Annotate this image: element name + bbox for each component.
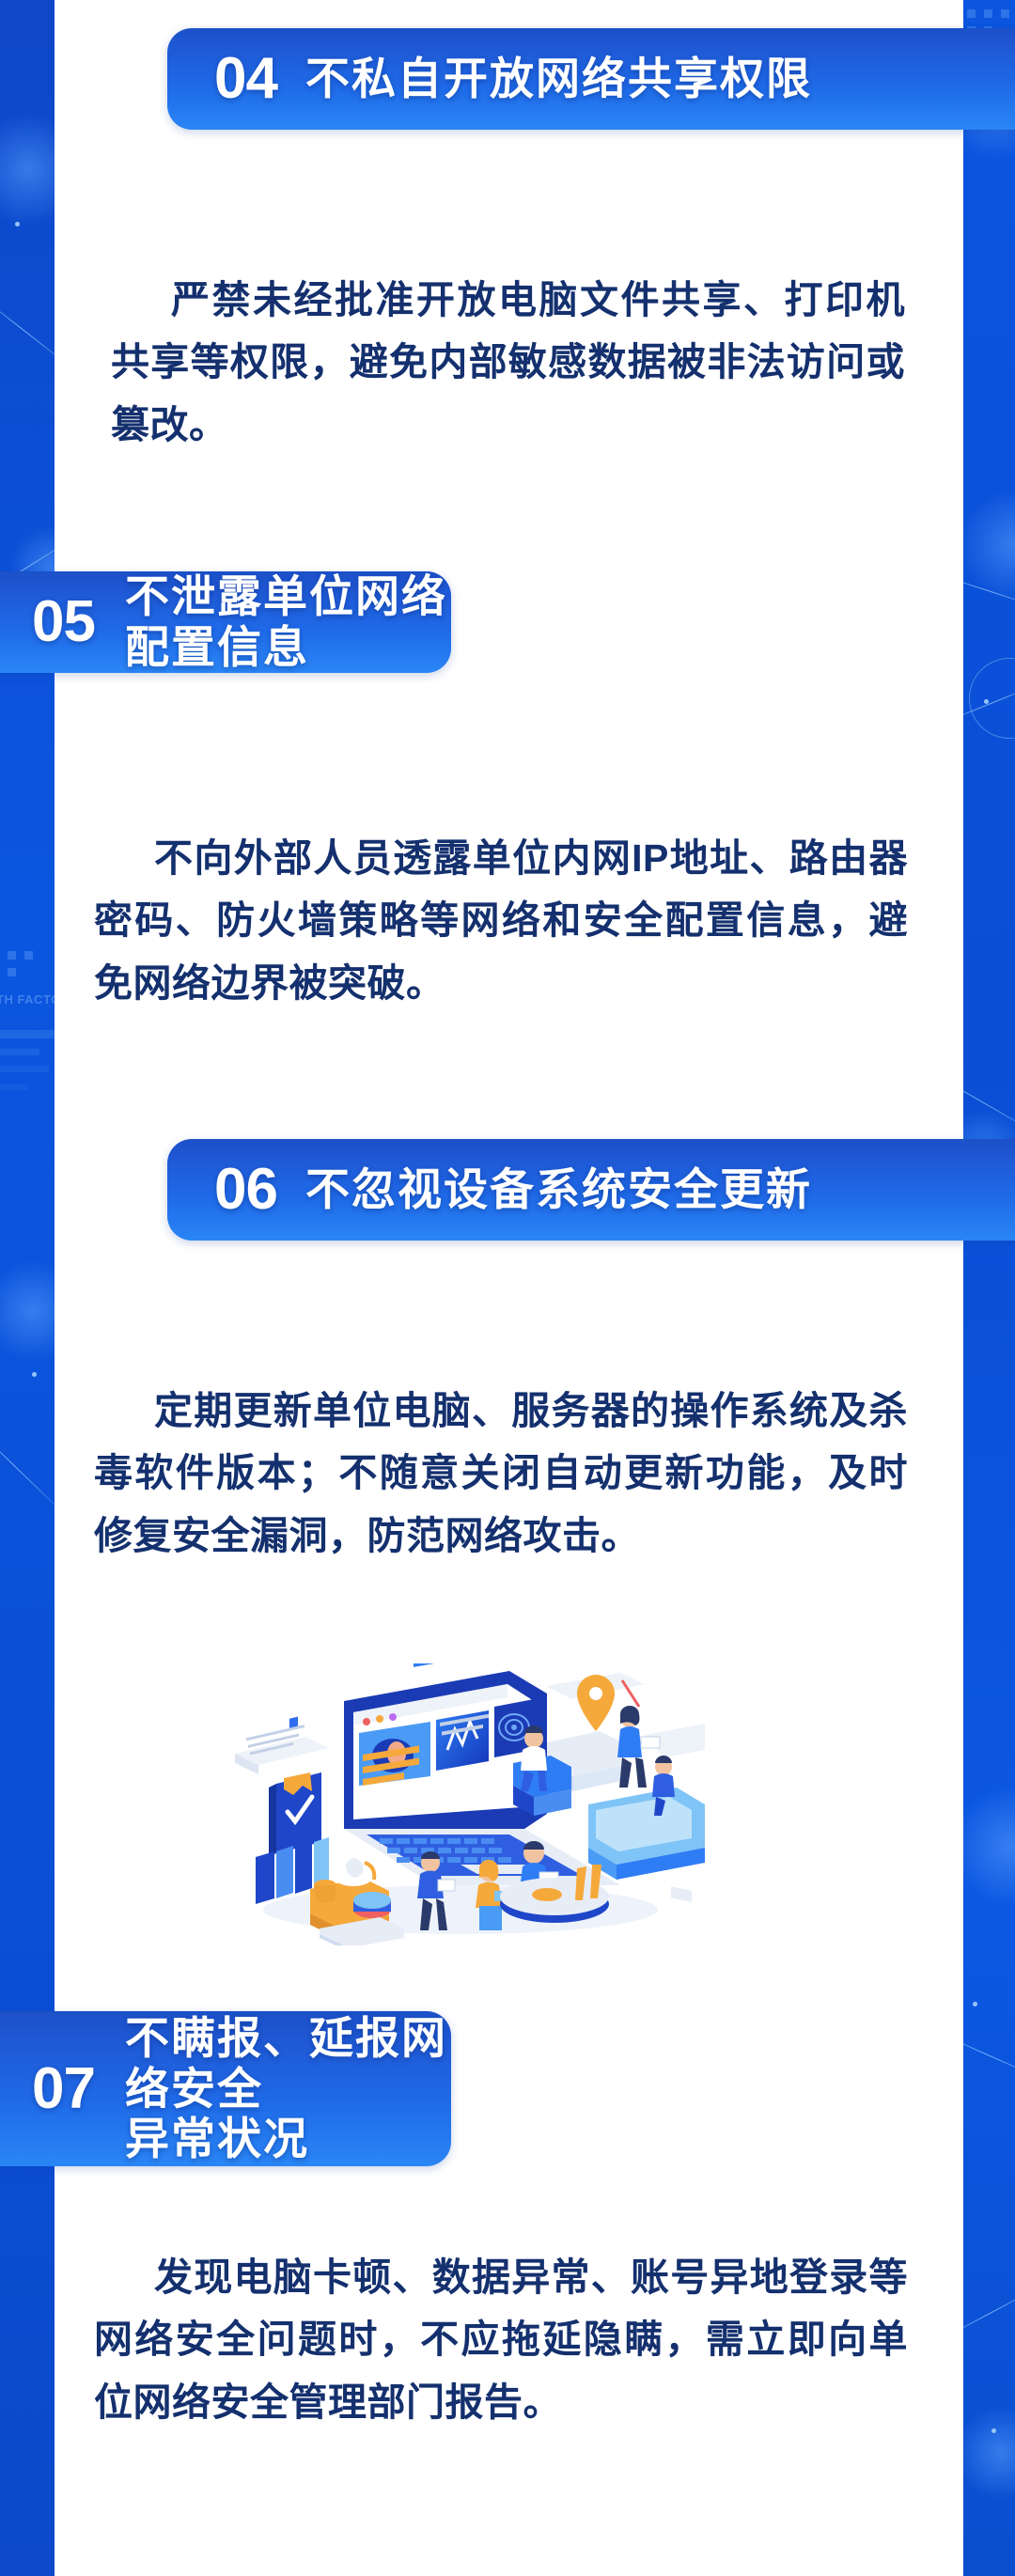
section-number-07: 07 <box>32 2060 95 2118</box>
decor-square <box>984 9 992 18</box>
infographic-page: TH FACTORS 04 不私自开放网络共享权限 <box>0 0 1015 2576</box>
decor-square <box>8 951 16 960</box>
section-title-07-line2: 异常状况 <box>125 2114 451 2164</box>
network-line <box>0 1410 55 1522</box>
decor-bar <box>0 1066 49 1072</box>
section-number-06: 06 <box>214 1161 277 1219</box>
section-header-07: 07 不瞒报、延报网络安全 异常状况 <box>0 2011 451 2166</box>
network-node-dot <box>973 2002 977 2006</box>
network-node-dot <box>992 2428 996 2433</box>
right-decorative-band <box>963 0 1015 2576</box>
section-header-05: 05 不泄露单位网络配置信息 <box>0 571 451 673</box>
decor-square <box>1001 9 1009 18</box>
band-watermark-text: TH FACTORS <box>0 992 55 1007</box>
section-body-04: 严禁未经批准开放电脑文件共享、打印机共享等权限，避免内部敏感数据被非法访问或篡改… <box>111 269 905 456</box>
section-title-05: 不泄露单位网络配置信息 <box>125 571 451 672</box>
network-line <box>963 2021 1015 2088</box>
network-node-dot <box>984 699 989 704</box>
network-line <box>963 2277 1015 2350</box>
decor-bar <box>0 1030 55 1038</box>
glow-blob <box>963 1786 1015 1908</box>
glow-blob <box>0 113 55 226</box>
network-line <box>0 282 55 375</box>
glow-blob <box>0 1259 55 1363</box>
section-header-06: 06 不忽视设备系统安全更新 <box>167 1139 1015 1241</box>
section-body-07: 发现电脑卡顿、数据异常、账号异地登录等网络安全问题时，不应拖延隐瞒，需立即向单位… <box>94 2246 908 2433</box>
decor-square <box>24 951 33 960</box>
section-header-04: 04 不私自开放网络共享权限 <box>167 28 1015 130</box>
glow-blob <box>963 2406 1015 2500</box>
decor-bar <box>0 1049 39 1055</box>
network-node-dot <box>15 222 20 226</box>
left-decorative-band: TH FACTORS <box>0 0 55 2576</box>
network-ring <box>969 658 1015 739</box>
decor-bar <box>0 1085 28 1090</box>
decor-square <box>967 9 976 18</box>
section-number-05: 05 <box>32 593 95 651</box>
section-body-05: 不向外部人员透露单位内网IP地址、路由器密码、防火墙策略等网络和安全配置信息，避… <box>94 827 908 1014</box>
section-body-06: 定期更新单位电脑、服务器的操作系统及杀毒软件版本；不随意关闭自动更新功能，及时修… <box>94 1380 908 1567</box>
network-node-dot <box>32 1372 37 1377</box>
section-title-04: 不私自开放网络共享权限 <box>305 54 812 104</box>
section-title-07-line1: 不瞒报、延报网络安全 <box>125 2013 451 2114</box>
section-title-06: 不忽视设备系统安全更新 <box>305 1164 812 1215</box>
section-title-07: 不瞒报、延报网络安全 异常状况 <box>125 2013 451 2164</box>
decor-square <box>8 968 16 976</box>
isometric-workspace-illustration <box>179 1663 705 1945</box>
section-number-04: 04 <box>214 50 277 108</box>
